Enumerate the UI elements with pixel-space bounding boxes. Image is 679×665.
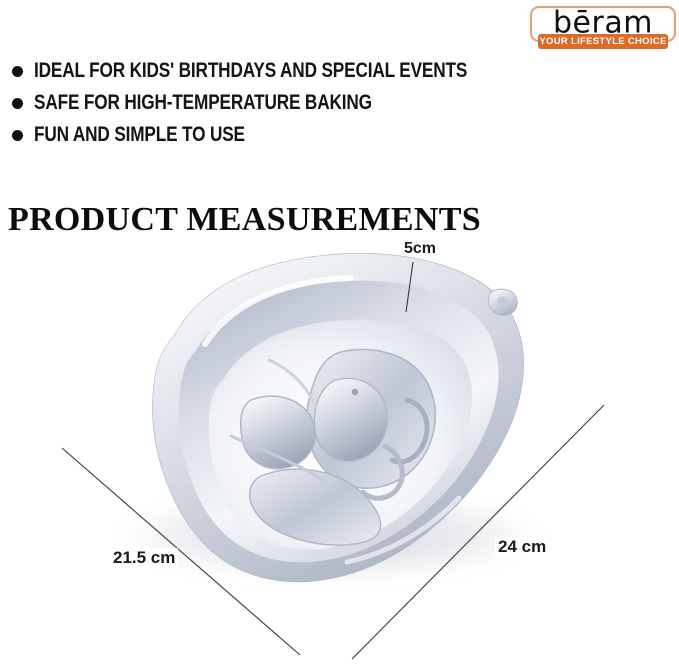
logo-tagline-banner: YOUR LIFESTYLE CHOICE: [538, 34, 668, 49]
product-measurement-diagram: 5cm 21.5 cm 24 cm: [0, 235, 679, 665]
relief-eye: [352, 389, 358, 395]
bullet-circle-icon: [12, 130, 23, 141]
list-item: FUN AND SIMPLE TO USE: [8, 122, 478, 147]
product-infographic: bēram YOUR LIFESTYLE CHOICE IDEAL FOR KI…: [0, 0, 679, 665]
feature-label: SAFE FOR HIGH-TEMPERATURE BAKING: [34, 90, 372, 115]
list-item: SAFE FOR HIGH-TEMPERATURE BAKING: [8, 90, 478, 115]
feature-label: FUN AND SIMPLE TO USE: [34, 122, 245, 147]
bullet-circle-icon: [12, 66, 23, 77]
cake-pan-illustration: [55, 240, 555, 600]
brand-logo: bēram YOUR LIFESTYLE CHOICE: [530, 6, 676, 42]
page-title: PRODUCT MEASUREMENTS: [8, 201, 481, 239]
pan-hang-hole: [497, 297, 507, 306]
width-label: 21.5 cm: [110, 548, 178, 568]
depth-label: 5cm: [404, 240, 436, 258]
relief-face: [314, 378, 387, 461]
bullet-circle-icon: [12, 98, 23, 109]
feature-list: IDEAL FOR KIDS' BIRTHDAYS AND SPECIAL EV…: [8, 58, 478, 154]
list-item: IDEAL FOR KIDS' BIRTHDAYS AND SPECIAL EV…: [8, 58, 478, 83]
feature-label: IDEAL FOR KIDS' BIRTHDAYS AND SPECIAL EV…: [34, 58, 467, 83]
product-image: [55, 240, 555, 600]
length-label: 24 cm: [495, 537, 549, 557]
